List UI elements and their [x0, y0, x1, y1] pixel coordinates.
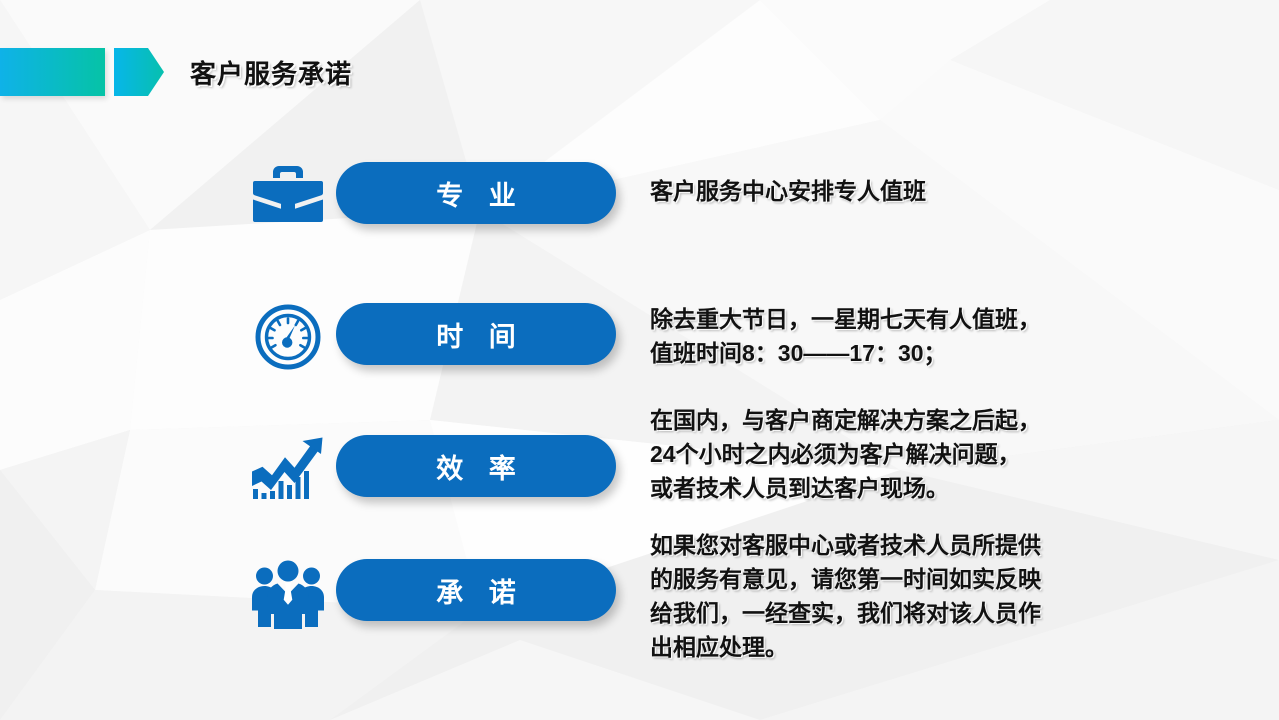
row-description-1: 除去重大节日，一星期七天有人值班， 值班时间8：30——17：30；	[650, 302, 1041, 370]
desc-line: 给我们，一经查实，我们将对该人员作	[650, 596, 1041, 630]
header-arrow-icon	[114, 48, 164, 96]
header-gradient-bar	[0, 48, 105, 96]
pill-button-0[interactable]: 专 业	[336, 162, 616, 224]
desc-line: 客户服务中心安排专人值班	[650, 174, 926, 208]
header-spacer	[105, 48, 114, 96]
commitment-row: 时 间 除去重大节日，一星期七天有人值班， 值班时间8：30——17：30；	[240, 303, 1041, 371]
desc-line: 24个小时之内必须为客户解决问题，	[650, 437, 1041, 471]
desc-line: 出相应处理。	[650, 630, 1041, 664]
desc-line: 或者技术人员到达客户现场。	[650, 471, 1041, 505]
pill-button-1[interactable]: 时 间	[336, 303, 616, 365]
speedometer-icon	[240, 303, 336, 371]
commitment-row: 专 业 客户服务中心安排专人值班	[240, 162, 926, 226]
desc-line: 在国内，与客户商定解决方案之后起，	[650, 403, 1041, 437]
desc-line: 值班时间8：30——17：30；	[650, 336, 1041, 370]
pill-button-3[interactable]: 承 诺	[336, 559, 616, 621]
desc-line: 除去重大节日，一星期七天有人值班，	[650, 302, 1041, 336]
row-description-2: 在国内，与客户商定解决方案之后起， 24个小时之内必须为客户解决问题， 或者技术…	[650, 403, 1041, 505]
row-description-0: 客户服务中心安排专人值班	[650, 174, 926, 208]
slide-canvas: 客户服务承诺 专 业 客户服务中心安排专人值班	[0, 0, 1279, 720]
commitment-row: 承 诺 如果您对客服中心或者技术人员所提供 的服务有意见，请您第一时间如实反映 …	[240, 559, 1041, 664]
growth-chart-icon	[240, 435, 336, 507]
briefcase-icon	[240, 162, 336, 226]
slide-header: 客户服务承诺	[0, 48, 352, 96]
page-title: 客户服务承诺	[190, 54, 352, 91]
pill-button-2[interactable]: 效 率	[336, 435, 616, 497]
commitment-row: 效 率 在国内，与客户商定解决方案之后起， 24个小时之内必须为客户解决问题， …	[240, 435, 1041, 507]
desc-line: 如果您对客服中心或者技术人员所提供	[650, 528, 1041, 562]
team-people-icon	[240, 559, 336, 629]
desc-line: 的服务有意见，请您第一时间如实反映	[650, 562, 1041, 596]
row-description-3: 如果您对客服中心或者技术人员所提供 的服务有意见，请您第一时间如实反映 给我们，…	[650, 528, 1041, 664]
